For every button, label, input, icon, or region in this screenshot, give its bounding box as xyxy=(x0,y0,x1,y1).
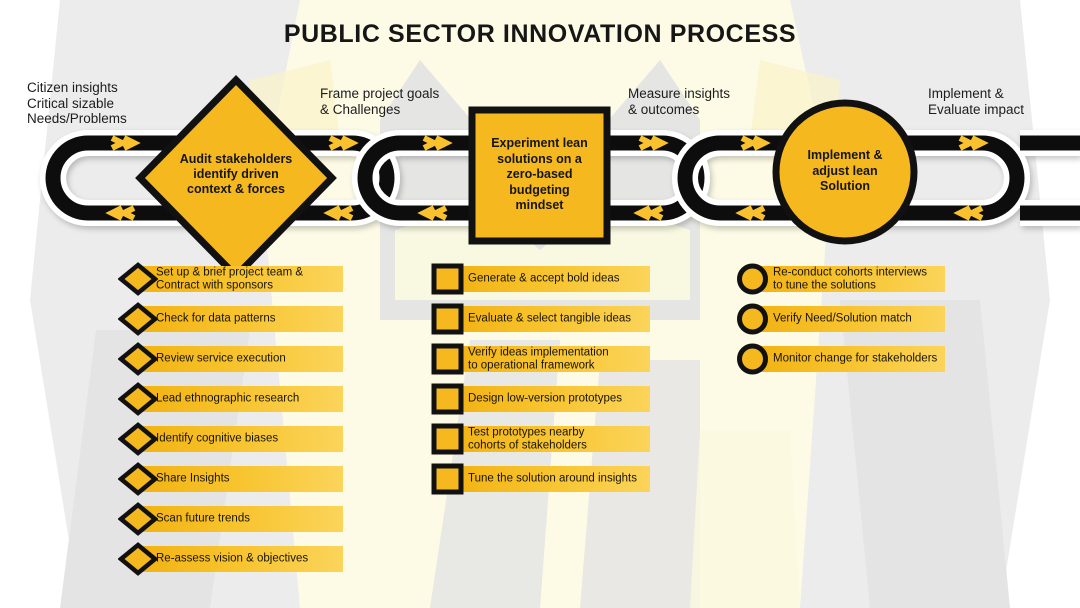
caption-measure-insights: Measure insights & outcomes xyxy=(628,86,730,117)
item-label: Design low-version prototypes xyxy=(468,393,622,406)
item-label: Tune the solution around insights xyxy=(468,473,637,486)
list-item[interactable]: Identify cognitive biases xyxy=(118,426,348,452)
item-label: Lead ethnographic research xyxy=(156,393,299,406)
list-item[interactable]: Test prototypes nearby cohorts of stakeh… xyxy=(430,426,660,452)
item-label: Monitor change for stakeholders xyxy=(773,353,937,366)
item-label: Evaluate & select tangible ideas xyxy=(468,313,631,326)
experiment-column: Generate & accept bold ideas Evaluate & … xyxy=(430,266,660,506)
diamond-icon xyxy=(118,422,158,456)
square-icon xyxy=(430,342,466,376)
caption-implement-evaluate: Implement & Evaluate impact xyxy=(928,86,1024,117)
list-item[interactable]: Design low-version prototypes xyxy=(430,386,660,412)
diamond-icon xyxy=(118,542,158,576)
caption-frame-project-goals: Frame project goals & Challenges xyxy=(320,86,439,117)
implement-column: Re-conduct cohorts interviews to tune th… xyxy=(735,266,965,386)
item-label: Identify cognitive biases xyxy=(156,433,278,446)
list-item[interactable]: Set up & brief project team & Contract w… xyxy=(118,266,348,292)
item-label: Re-assess vision & objectives xyxy=(156,553,308,566)
square-icon xyxy=(430,382,466,416)
experiment-lean-node[interactable] xyxy=(472,110,607,241)
infographic-canvas: PUBLIC SECTOR INNOVATION PROCESS xyxy=(0,0,1080,608)
square-icon xyxy=(430,262,466,296)
diamond-icon xyxy=(118,502,158,536)
diamond-icon xyxy=(118,342,158,376)
caption-citizen-insights: Citizen insights Critical sizable Needs/… xyxy=(27,80,127,127)
list-item[interactable]: Generate & accept bold ideas xyxy=(430,266,660,292)
item-label: Generate & accept bold ideas xyxy=(468,273,620,286)
list-item[interactable]: Lead ethnographic research xyxy=(118,386,348,412)
square-icon xyxy=(430,462,466,496)
square-icon xyxy=(430,302,466,336)
item-label: Verify Need/Solution match xyxy=(773,313,912,326)
implement-adjust-node[interactable] xyxy=(776,103,914,241)
square-icon xyxy=(430,422,466,456)
circle-icon xyxy=(735,342,771,376)
list-item[interactable]: Review service execution xyxy=(118,346,348,372)
item-label: Re-conduct cohorts interviews to tune th… xyxy=(773,266,927,291)
item-label: Test prototypes nearby cohorts of stakeh… xyxy=(468,426,587,451)
list-item[interactable]: Re-conduct cohorts interviews to tune th… xyxy=(735,266,965,292)
diamond-icon xyxy=(118,302,158,336)
list-item[interactable]: Evaluate & select tangible ideas xyxy=(430,306,660,332)
diamond-icon xyxy=(118,262,158,296)
list-item[interactable]: Verify Need/Solution match xyxy=(735,306,965,332)
list-item[interactable]: Tune the solution around insights xyxy=(430,466,660,492)
circle-icon xyxy=(735,262,771,296)
item-label: Review service execution xyxy=(156,353,286,366)
discover-column: Set up & brief project team & Contract w… xyxy=(118,266,348,586)
list-item[interactable]: Verify ideas implementation to operation… xyxy=(430,346,660,372)
diamond-icon xyxy=(118,382,158,416)
item-label: Scan future trends xyxy=(156,513,250,526)
item-label: Check for data patterns xyxy=(156,313,276,326)
list-item[interactable]: Share Insights xyxy=(118,466,348,492)
item-label: Verify ideas implementation to operation… xyxy=(468,346,609,371)
list-item[interactable]: Scan future trends xyxy=(118,506,348,532)
audit-stakeholders-node[interactable] xyxy=(140,80,332,276)
circle-icon xyxy=(735,302,771,336)
item-label: Share Insights xyxy=(156,473,230,486)
list-item[interactable]: Re-assess vision & objectives xyxy=(118,546,348,572)
list-item[interactable]: Monitor change for stakeholders xyxy=(735,346,965,372)
diamond-icon xyxy=(118,462,158,496)
item-label: Set up & brief project team & Contract w… xyxy=(156,266,303,291)
list-item[interactable]: Check for data patterns xyxy=(118,306,348,332)
